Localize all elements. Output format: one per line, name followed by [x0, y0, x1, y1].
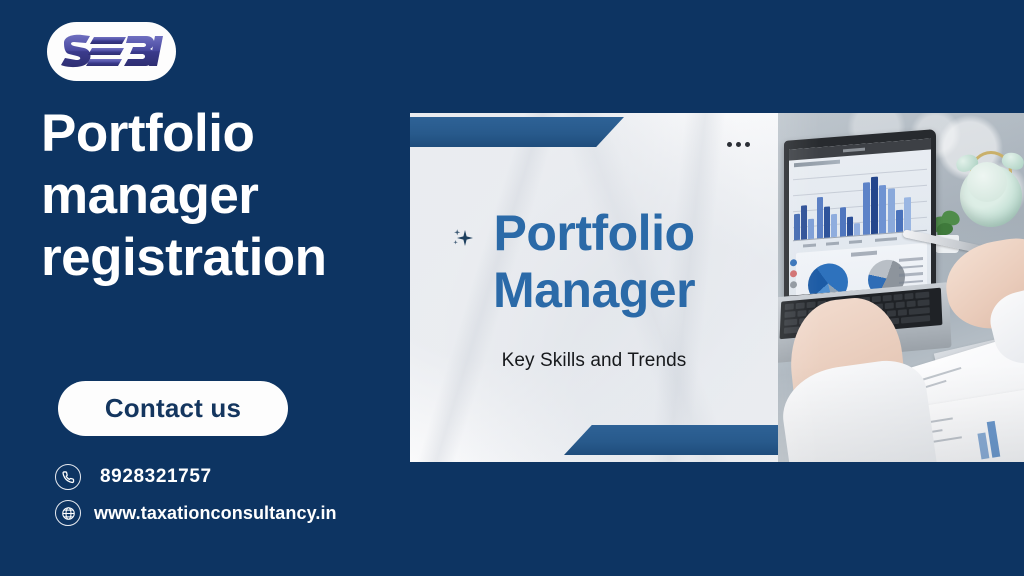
card-title: Portfolio Manager — [410, 205, 778, 319]
dot — [727, 142, 732, 147]
headline-line-2: manager — [41, 165, 406, 227]
dot — [736, 142, 741, 147]
alarm-clock — [956, 151, 1024, 231]
card-subtitle: Key Skills and Trends — [410, 350, 778, 372]
card-accent-bar-top — [410, 117, 624, 147]
card-title-line-2: Manager — [410, 262, 778, 319]
contact-website[interactable]: www.taxationconsultancy.in — [55, 500, 337, 526]
card-title-line-1: Portfolio — [410, 205, 778, 262]
sebi-logo — [47, 22, 176, 81]
workspace-photo — [778, 113, 1024, 462]
phone-number: 8928321757 — [100, 466, 212, 488]
hero-visual: Portfolio Manager Key Skills and Trends — [410, 113, 1024, 462]
page-title: Portfolio manager registration — [41, 103, 406, 289]
laptop-screen — [784, 129, 936, 301]
card-accent-bar-bottom — [564, 425, 778, 455]
left-content-panel: Portfolio manager registration Contact u… — [0, 0, 410, 576]
globe-icon — [55, 500, 81, 526]
contact-phone[interactable]: 8928321757 — [55, 464, 212, 490]
dot — [745, 142, 750, 147]
headline-line-1: Portfolio — [41, 103, 406, 165]
contact-us-button[interactable]: Contact us — [58, 381, 288, 436]
promo-card: Portfolio Manager Key Skills and Trends — [410, 113, 778, 462]
sebi-logo-icon — [60, 33, 164, 71]
more-dots-icon[interactable] — [727, 142, 750, 147]
website-url: www.taxationconsultancy.in — [94, 503, 337, 524]
headline-line-3: registration — [41, 227, 406, 289]
phone-icon — [55, 464, 81, 490]
